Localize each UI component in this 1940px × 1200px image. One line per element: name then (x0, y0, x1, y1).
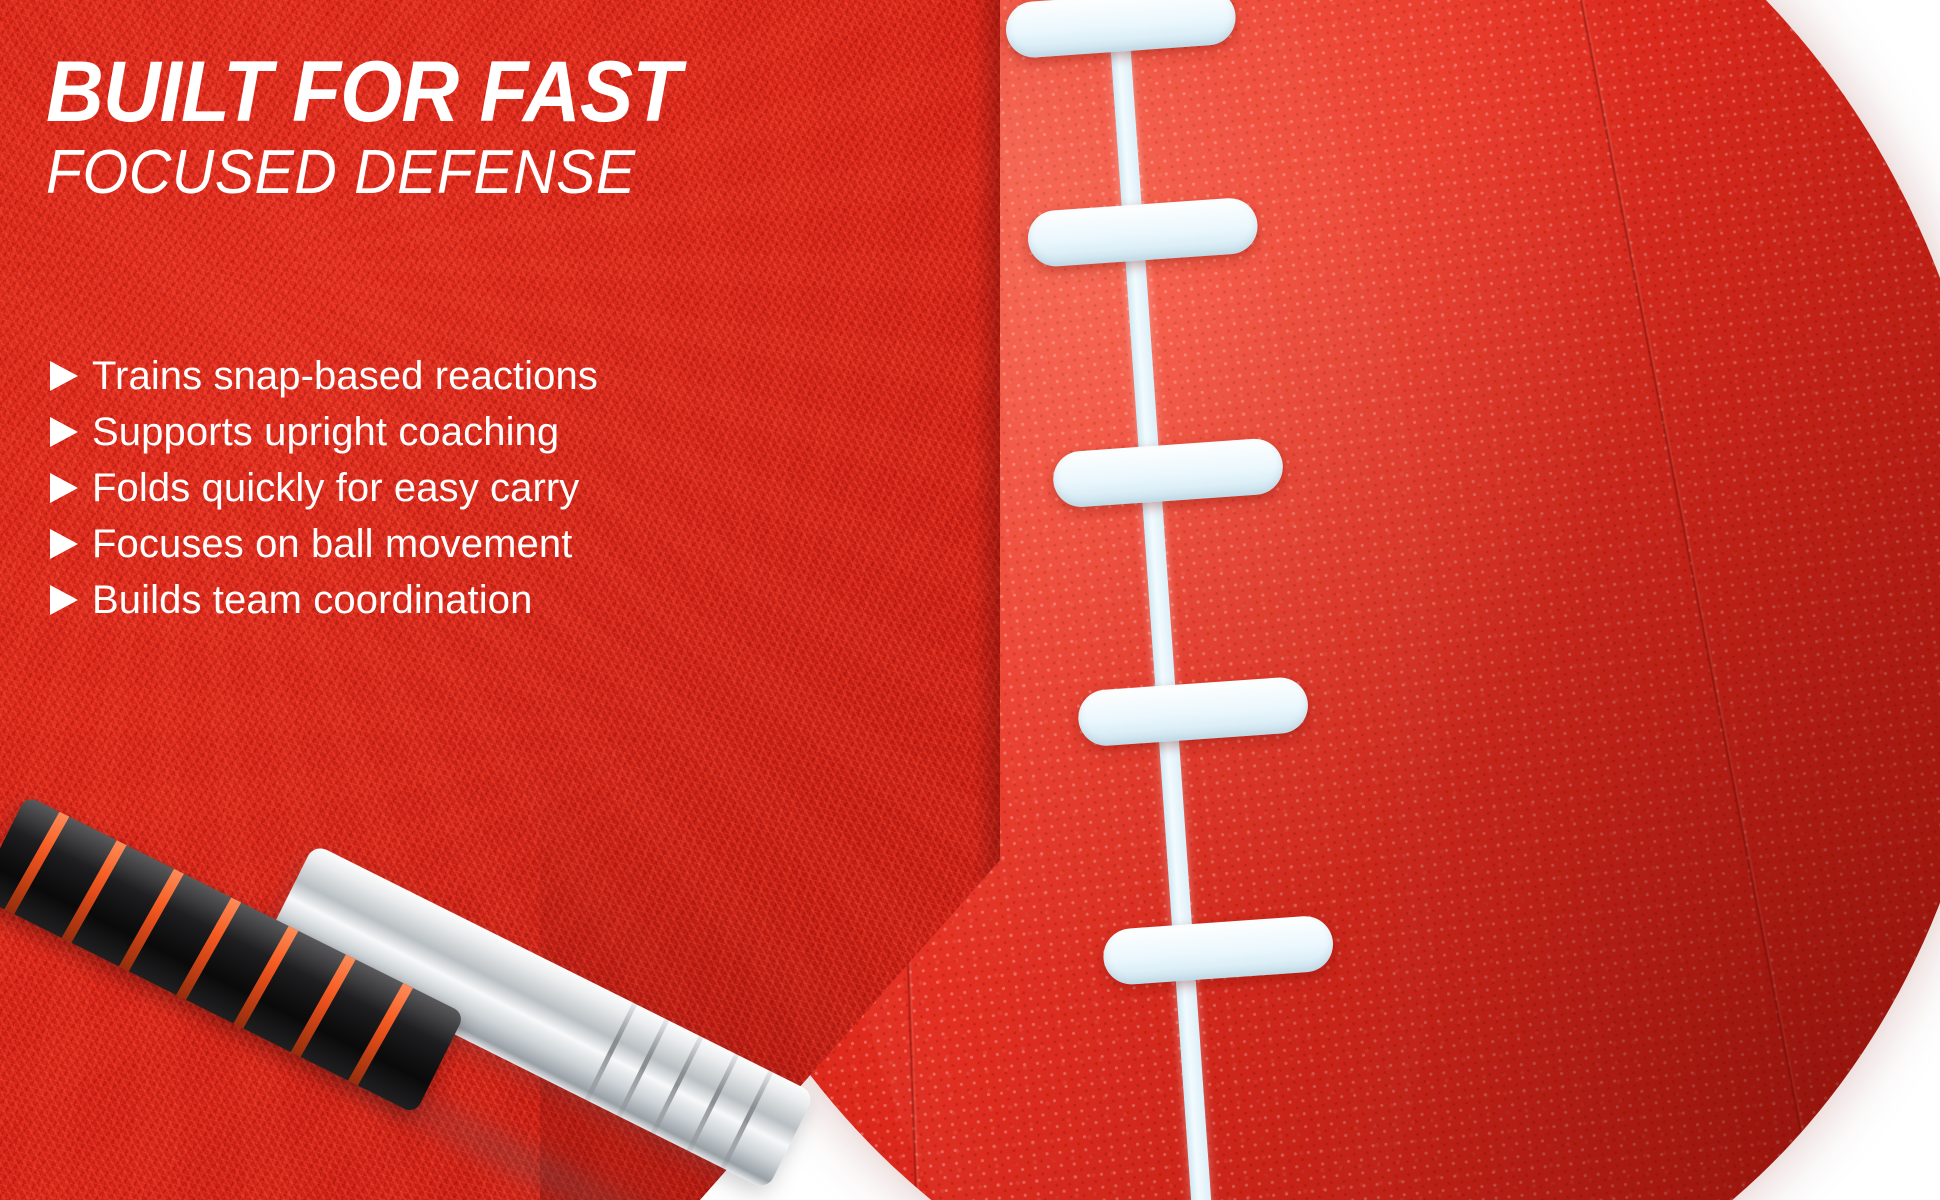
list-item: Supports upright coaching (46, 404, 766, 460)
arrow-right-triangle-icon (46, 529, 92, 559)
list-item: Focuses on ball movement (46, 516, 766, 572)
arrow-right-triangle-icon (46, 473, 92, 503)
feature-label: Folds quickly for easy carry (92, 467, 579, 509)
arrow-right-triangle-icon (46, 417, 92, 447)
feature-label: Focuses on ball movement (92, 523, 572, 565)
arrow-right-triangle-icon (46, 585, 92, 615)
feature-label: Builds team coordination (92, 579, 532, 621)
headline-block: BUILT FOR FAST FOCUSED DEFENSE (46, 52, 806, 205)
pole-ring (687, 1053, 740, 1152)
training-pole (0, 812, 880, 1200)
list-item: Folds quickly for easy carry (46, 460, 766, 516)
feature-label: Trains snap-based reactions (92, 355, 598, 397)
headline-line-2: FOCUSED DEFENSE (46, 140, 768, 205)
list-item: Builds team coordination (46, 572, 766, 628)
pole-ring (617, 1019, 670, 1118)
feature-label: Supports upright coaching (92, 411, 559, 453)
promo-banner: ATHLETICS NW BUILT FOR FAST FOCUSED DEFE… (0, 0, 1940, 1200)
pole-ring (585, 1003, 638, 1102)
pole-ring (721, 1070, 774, 1169)
feature-list: Trains snap-based reactions Supports upr… (46, 348, 766, 628)
arrow-right-triangle-icon (46, 361, 92, 391)
headline-line-1: BUILT FOR FAST (46, 52, 753, 134)
list-item: Trains snap-based reactions (46, 348, 766, 404)
pole-ring (651, 1036, 704, 1135)
